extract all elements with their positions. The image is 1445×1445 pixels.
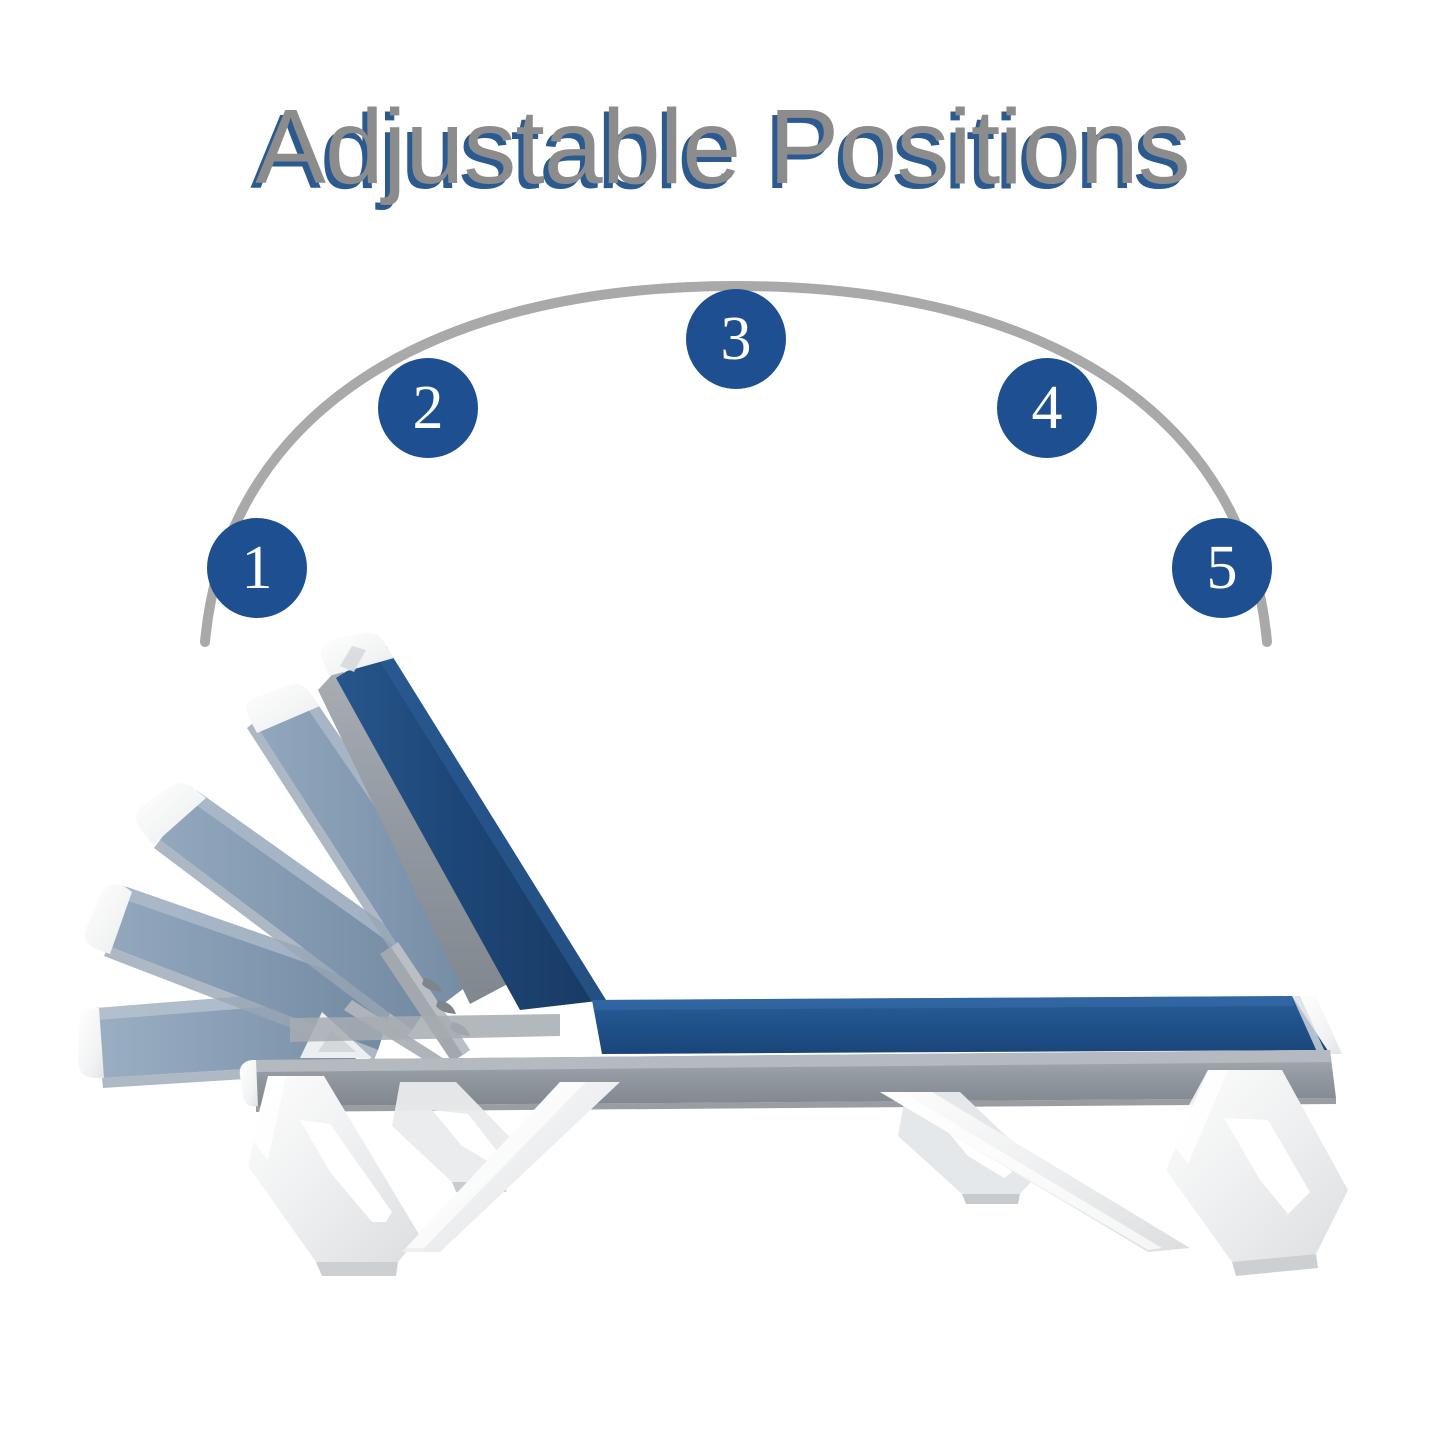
rear-leg-far-foot (962, 1194, 1020, 1204)
seat-sling (592, 996, 1342, 1054)
front-leg-near-foot (316, 1262, 398, 1276)
front-leg-frame (248, 1076, 620, 1276)
infographic-canvas: Adjustable Positions 1 2 3 4 5 (0, 0, 1445, 1445)
inner-rail-far-side (290, 1014, 560, 1042)
chaise-lounge-illustration (0, 0, 1445, 1445)
rail-head-cap (240, 1060, 258, 1106)
rear-leg-brace-highlight (880, 1092, 1162, 1250)
